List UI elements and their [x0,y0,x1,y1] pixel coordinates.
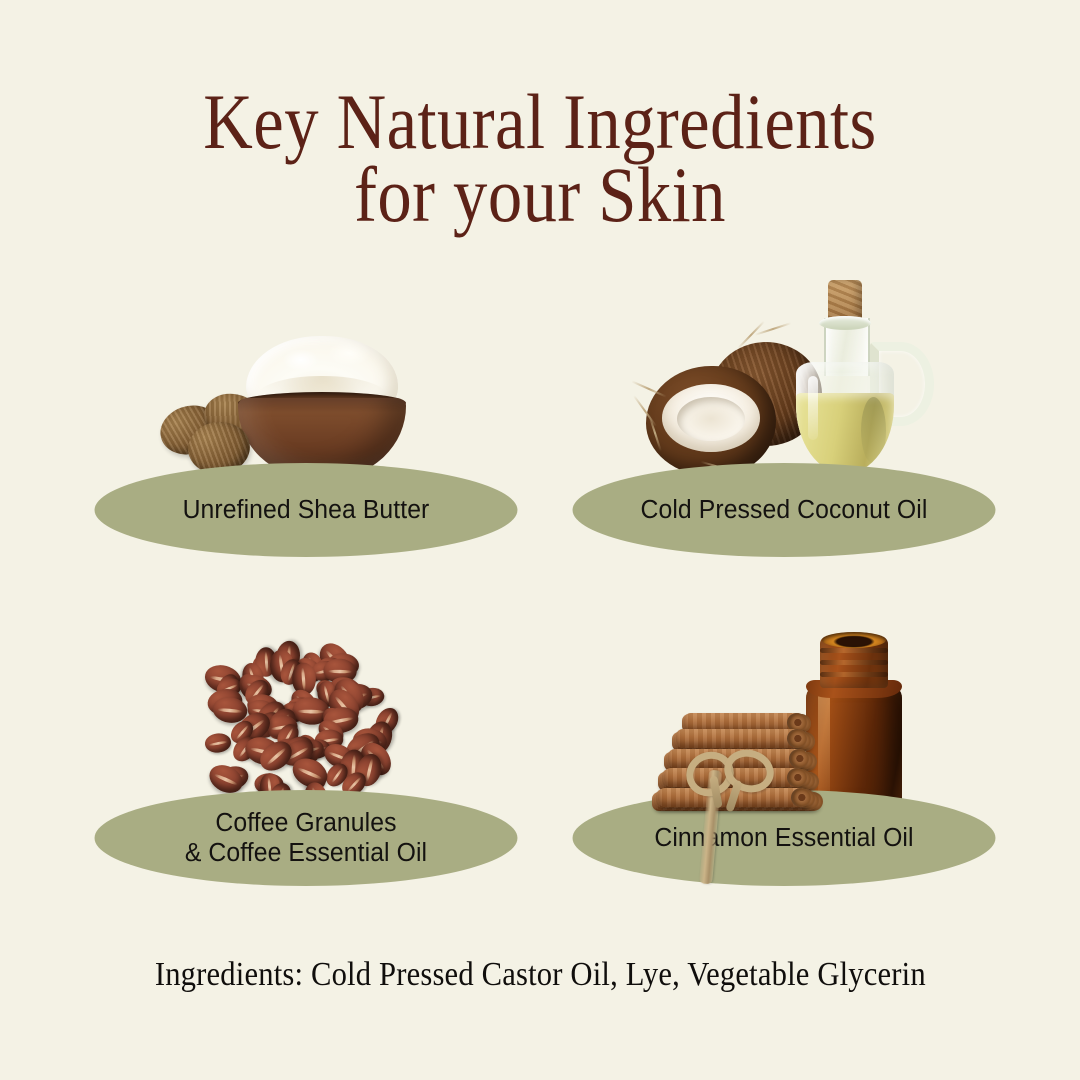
ingredients-footer-list: Cold Pressed Castor Oil, Lye, Vegetable … [311,956,926,993]
coffee-bean-icon [204,732,232,754]
bottle-thread [820,648,888,653]
page-title-line-1: Key Natural Ingredients [65,86,1015,159]
cinnamon-stick-curl-icon [791,788,811,807]
cinnamon-stick-curl-icon [789,749,809,768]
cinnamon-stick-curl-icon [787,729,807,748]
page-title: Key Natural Ingredients for your Skin [0,86,1080,231]
ingredient-label-line-2: & Coffee Essential Oil [185,838,427,868]
ingredient-label-line-1: Coffee Granules [185,808,427,838]
ingredient-label-line-1: Cold Pressed Coconut Oil [641,495,928,525]
ingredient-label-shea-butter[interactable]: Unrefined Shea Butter [95,463,518,557]
cinnamon-sticks-and-amber-bottle-illustration [650,630,920,822]
cinnamon-stick-curl-icon [787,768,807,787]
ingredients-poster: Key Natural Ingredients for your Skin Un… [0,0,1080,1080]
ingredient-label-coconut-oil[interactable]: Cold Pressed Coconut Oil [573,463,996,557]
cinnamon-stick-bundle [650,704,830,816]
coconut-half-open [646,366,776,476]
coconut-and-oil-cruet-illustration [636,280,926,488]
cruet-lip [819,316,871,330]
bottle-thread [820,660,888,665]
ingredient-label-coffee[interactable]: Coffee Granules & Coffee Essential Oil [95,790,518,886]
ingredients-footer: Ingredients: Cold Pressed Castor Oil, Ly… [0,956,1080,994]
oil-cruet [786,280,906,478]
ingredients-footer-label: Ingredients: [154,956,302,993]
page-title-line-2: for your Skin [65,159,1015,232]
ingredient-label-line-1: Cinnamon Essential Oil [654,823,913,853]
bottle-thread [820,672,888,677]
bottle-mouth [822,632,886,648]
cinnamon-stick-icon [676,729,804,748]
ingredient-label-line-1: Unrefined Shea Butter [183,495,430,525]
glass-highlight [808,376,818,440]
